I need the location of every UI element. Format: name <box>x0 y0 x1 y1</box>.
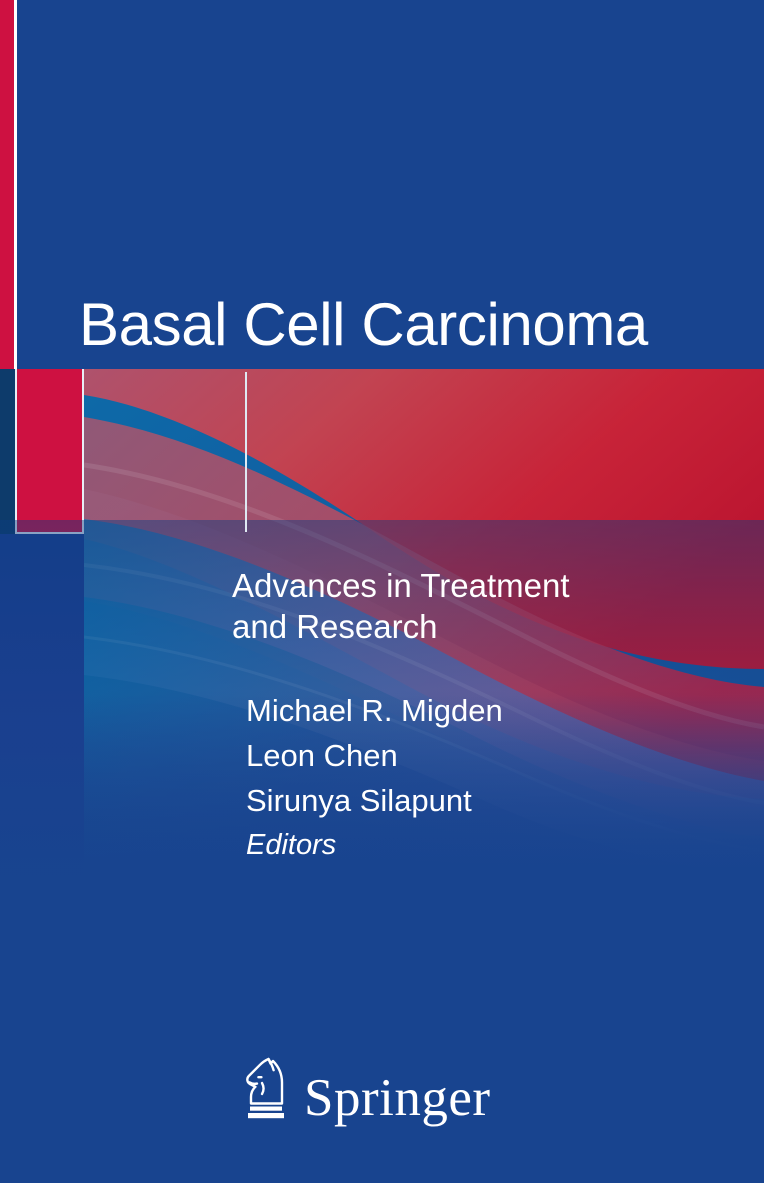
editor-name: Leon Chen <box>246 733 676 778</box>
springer-knight-icon <box>238 1053 290 1121</box>
spine-red-stripe <box>0 0 14 370</box>
book-title: Basal Cell Carcinoma <box>79 292 749 358</box>
white-vertical-rule <box>245 372 247 532</box>
spine-white-rule <box>14 0 17 370</box>
editor-name: Michael R. Migden <box>246 688 676 733</box>
book-subtitle: Advances in Treatment and Research <box>232 565 652 647</box>
band-red-block-right-rule <box>82 369 84 533</box>
book-subtitle-line-1: Advances in Treatment <box>232 565 652 606</box>
book-cover: Basal Cell Carcinoma Advances in Treatme… <box>0 0 764 1183</box>
band-red-block-left-rule <box>15 369 17 533</box>
publisher-name: Springer <box>304 1071 491 1125</box>
editors-list: Michael R. Migden Leon Chen Sirunya Sila… <box>246 688 676 863</box>
editors-role-label: Editors <box>246 827 676 863</box>
book-subtitle-line-2: and Research <box>232 606 652 647</box>
band-left-fill <box>0 534 84 885</box>
editor-name: Sirunya Silapunt <box>246 778 676 823</box>
band-red-block-bottom-rule <box>15 532 84 534</box>
publisher-logo: Springer <box>238 1053 491 1121</box>
band-red-block <box>17 369 82 533</box>
band-dark-left-slab <box>0 369 16 535</box>
